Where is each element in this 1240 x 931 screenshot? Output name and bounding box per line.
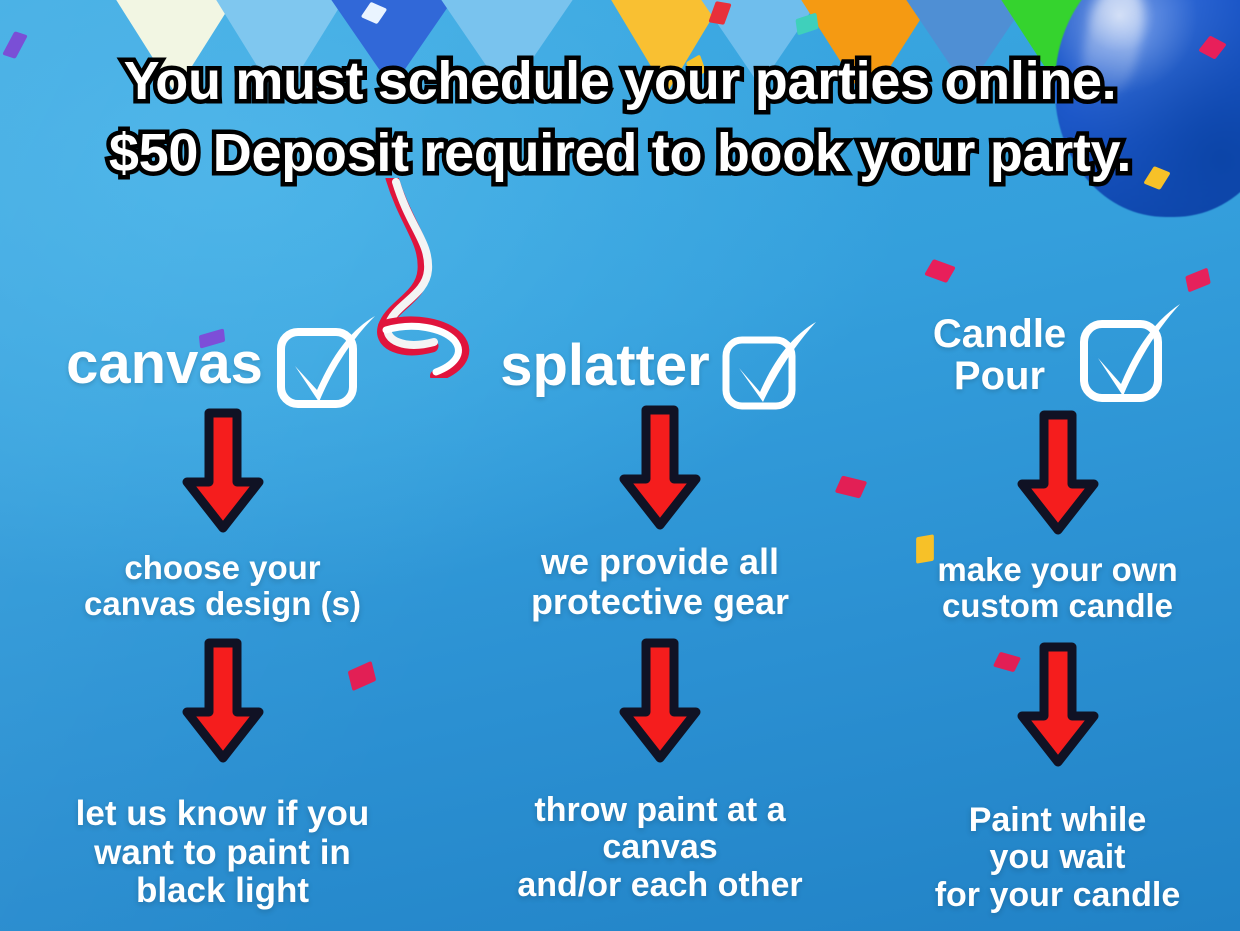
page-title: You must schedule your parties online. $… [0, 46, 1240, 190]
arrow-down-icon [619, 405, 701, 536]
step-text-canvas-1: choose your canvas design (s) [0, 550, 445, 623]
column-canvas: canvas choose your canvas design (s) let… [0, 280, 445, 931]
column-candle-pour: Candle Pour make your own custom candle … [875, 280, 1240, 931]
column-header-canvas: canvas [0, 314, 445, 415]
step-text-splatter-1: we provide all protective gear [445, 542, 875, 621]
arrow-down-icon [1017, 642, 1099, 773]
column-header-candle-pour: Candle Pour [875, 302, 1240, 407]
arrow-down-icon [1017, 410, 1099, 541]
column-title: splatter [500, 336, 710, 397]
column-header-splatter: splatter [445, 318, 875, 415]
column-title: Candle Pour [933, 313, 1066, 397]
arrow-down-icon [182, 408, 264, 539]
step-text-candle-2: Paint while you wait for your candle [875, 802, 1240, 914]
column-title: canvas [66, 334, 263, 395]
step-text-candle-1: make your own custom candle [875, 552, 1240, 625]
step-text-splatter-2: throw paint at a canvas and/or each othe… [445, 792, 875, 904]
columns-container: canvas choose your canvas design (s) let… [0, 280, 1240, 931]
arrow-down-icon [619, 638, 701, 769]
step-text-canvas-2: let us know if you want to paint in blac… [0, 795, 445, 911]
column-splatter: splatter we provide all protective gear … [445, 280, 875, 931]
checkbox-checked-icon[interactable] [1078, 302, 1182, 407]
arrow-down-icon [182, 638, 264, 769]
checkbox-checked-icon[interactable] [722, 318, 820, 415]
checkbox-checked-icon[interactable] [275, 314, 379, 415]
